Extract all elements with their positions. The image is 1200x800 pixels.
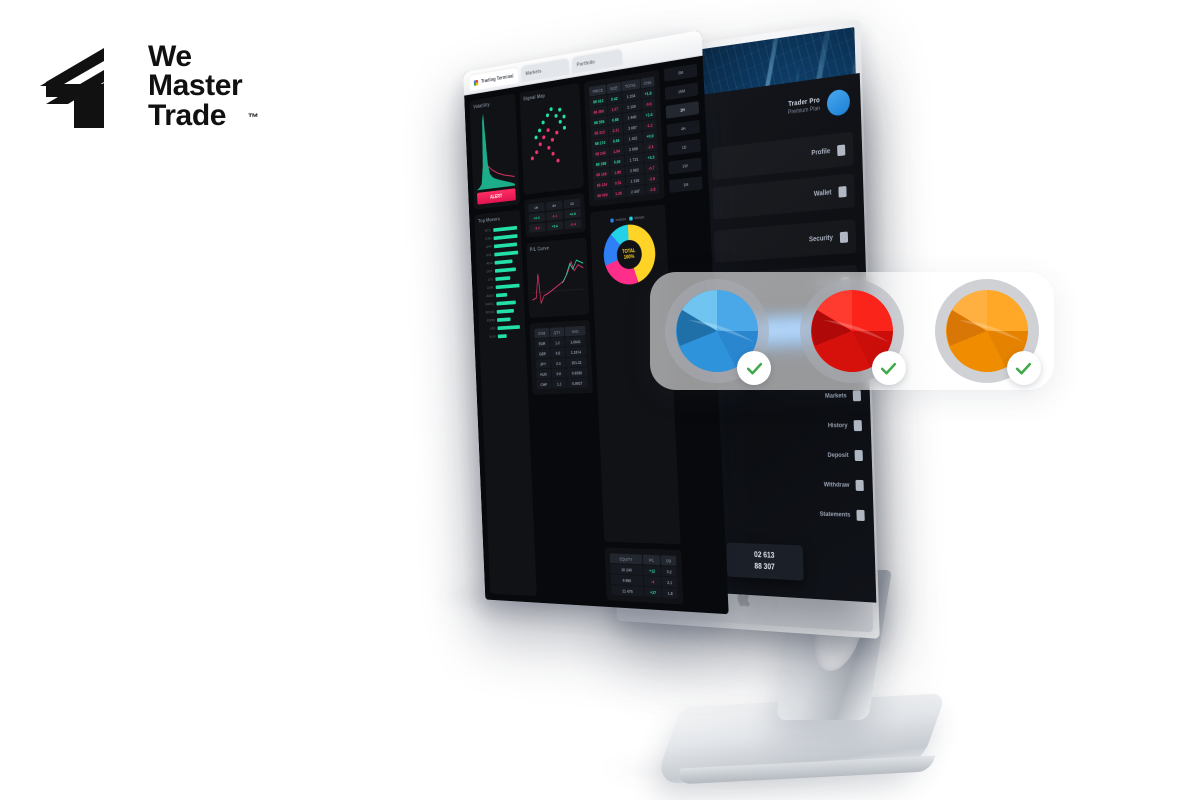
settings-user-header[interactable]: Trader Pro Premium Plan [712,88,851,131]
top-movers-bar [497,317,511,322]
brand-line-3: Trade [148,101,242,130]
table-cell: 1.54 [610,145,624,156]
top-movers-bar [494,250,518,256]
quote-chip[interactable]: -3.2 [529,223,546,233]
table-header-cell: EQUITY [610,553,643,564]
scatter-dot [556,158,559,162]
hero-composition: We Master Trade ™ [0,0,1200,800]
check-icon [1007,351,1041,385]
verified-badges-panel [650,272,1054,390]
table-cell: CHF [536,379,551,389]
tab-label: Markets [525,68,541,76]
table-cell: 2.4 [551,358,566,368]
table-header-cell: DD [661,555,677,565]
scatter-dot [535,150,538,154]
scatter-dot [563,114,566,118]
brand-wordmark: We Master Trade ™ [148,42,242,130]
top-movers-label: ADA [480,260,493,266]
table-cell: +3.3 [644,151,658,162]
user-icon [837,144,845,156]
allocation-donut-chart: TOTAL 100% [602,222,656,286]
positions-card: SYMQTYAVGEUR1.21.0841GBP0.81.2674JPY2.41… [529,320,593,395]
table-cell: 1.1 [552,379,567,389]
table-row: 11 475+271.8 [611,585,678,598]
shield-icon [840,231,848,242]
settings-row-label: Security [809,234,833,243]
table-cell: -1.5 [645,173,659,184]
chrome-favicon-icon [474,79,479,85]
top-movers-bar [497,308,514,313]
table-cell: 0.6588 [567,367,588,377]
document-icon [856,509,864,520]
scatter-dot [558,108,561,112]
table-cell: 1.8 [662,588,678,599]
table-cell: 1.2 [550,337,565,347]
menu-item-label: History [828,422,848,429]
scatter-dot [547,146,550,150]
table-header-cell: P/L [643,555,661,565]
quote-chip[interactable]: -0.4 [564,219,581,229]
top-movers-label: DOT [480,268,493,274]
timeframe-chips-card: 1H4H1D+2.4-1.1+0.8-3.2+5.6-0.4 [524,193,586,238]
top-movers-bar [497,325,519,330]
top-movers-row: XLM [483,331,522,341]
table-cell: 1.26 [612,187,626,198]
check-icon [737,351,771,385]
menu-item-statements[interactable]: Statements [722,499,865,528]
menu-item-label: Deposit [827,451,848,458]
table-cell: -4 [644,576,662,587]
top-movers-label: ETH [479,236,492,242]
top-movers-label: LTC [481,277,494,283]
table-cell: AUD [536,369,551,379]
settings-row-security[interactable]: Security [714,219,857,263]
table-cell: 9 860 [611,574,644,585]
table-cell: +27 [644,587,662,598]
top-movers-bar [496,300,516,305]
scatter-dot [534,135,537,139]
volatility-card: Volatility ALERT [469,94,519,210]
brand-logo: We Master Trade ™ [38,42,242,130]
table-cell: 1.88 [611,166,625,177]
badge-blue[interactable] [665,279,769,383]
tooltip-line-2: 88 307 [732,560,797,575]
orderbook-table: PRICESIZETOTALCHG68 4120.421 204+1.868 3… [588,75,660,201]
menu-item-label: Markets [825,392,847,399]
table-cell: 0.8 [550,348,565,358]
settings-row-profile[interactable]: Profile [711,132,853,180]
timeframe-tick[interactable]: 1H [666,101,699,119]
menu-item-label: Statements [820,510,851,518]
wallet-icon [838,186,846,198]
top-movers-bar [496,292,507,296]
table-header-cell: SYM [534,328,549,338]
top-movers-label: SOL [480,252,493,258]
pl-line-chart [530,251,585,313]
table-cell: 151.32 [566,357,587,367]
top-movers-label: XLM [483,334,496,339]
table-cell: EUR [534,338,549,348]
timeframe-tick[interactable]: 1W [668,158,701,175]
table-cell: 0.93 [610,156,624,167]
table-cell: JPY [535,359,550,369]
table-cell: 1.0841 [565,336,586,347]
table-cell: 2 447 [626,185,645,197]
menu-item-deposit[interactable]: Deposit [720,442,863,468]
timeframe-tick[interactable]: 1M [669,176,702,193]
top-movers-bar [498,334,507,338]
account-stats-table: EQUITYP/LDD10 240+123.29 860-42.111 475+… [609,552,679,599]
table-cell: +12 [643,565,661,576]
scatter-dot [550,107,553,111]
positions-table: SYMQTYAVGEUR1.21.0841GBP0.81.2674JPY2.41… [533,325,588,390]
scatter-dot [554,114,557,118]
table-cell: +0.9 [643,130,657,142]
imac-desktop: Trader Pro Premium Plan Profile Wallet S… [520,10,940,800]
signal-map-card: Signal Map [519,83,584,195]
table-cell: 68 090 [594,189,612,200]
scatter-dot [539,142,542,146]
top-movers-bar [493,225,517,231]
scatter-dot [538,128,541,132]
menu-item-label: Withdraw [824,481,850,488]
tab-label: Trading Terminal [481,73,514,84]
settings-row-label: Wallet [814,189,832,198]
timeframe-tick[interactable]: 4H [667,120,700,137]
top-movers-label: DOGE [482,309,495,314]
brand-line-2: Master [148,71,242,100]
quote-chip-row: 1H4H1D+2.4-1.1+0.8-3.2+5.6-0.4 [528,198,582,233]
settings-row-wallet[interactable]: Wallet [713,173,855,219]
table-row: CHF1.10.8927 [536,378,588,389]
scatter-dot [542,121,545,125]
top-movers-bar [494,234,518,240]
scatter-dot [563,126,566,130]
tab-label: Portfolio [577,59,595,68]
table-cell: 3.2 [661,566,677,577]
quote-chip[interactable]: 4H [546,200,563,210]
top-movers-bar [495,267,516,272]
account-stats-card: EQUITYP/LDD10 240+123.29 860-42.111 475+… [605,547,684,604]
top-movers-label: UNI [483,326,496,331]
trademark-symbol: ™ [248,113,259,124]
upload-icon [855,479,863,490]
top-movers-bar [496,283,520,289]
quote-chip[interactable]: -1.1 [546,211,563,221]
table-cell: -2.8 [645,183,659,194]
volatility-spike-chart [474,107,515,190]
table-cell: 0.8927 [567,378,588,388]
scatter-dot [555,131,558,135]
legend-item: Indices [611,216,627,222]
quote-chip[interactable]: +2.4 [528,213,545,223]
timeframe-tick[interactable]: 15M [665,82,698,100]
legend-item: Metals [629,214,644,220]
table-cell: 0.51 [611,177,625,188]
scatter-dot [552,152,555,156]
scatter-dot [546,128,549,132]
top-movers-list: BTCETHXRPSOLADADOTLTCLINKAVAXMATICDOGEAT… [478,223,521,341]
check-icon [872,351,906,385]
top-movers-bar [494,242,518,248]
table-cell: -0.7 [644,162,658,173]
timeframe-tick[interactable]: 1D [668,139,701,156]
timeframe-tick[interactable]: 5M [664,64,697,82]
menu-item-withdraw[interactable]: Withdraw [721,470,864,498]
clock-icon [854,420,862,431]
quote-chip[interactable]: +5.6 [546,221,563,231]
signal-scatter-chart [524,97,580,190]
top-movers-label: XRP [479,244,492,250]
user-avatar-icon[interactable] [827,88,851,117]
top-movers-bar [495,276,510,281]
badge-orange[interactable] [935,279,1039,383]
orderbook-card: PRICESIZETOTALCHG68 4120.421 204+1.868 3… [584,70,665,207]
quote-chip[interactable]: +0.8 [564,209,581,219]
table-cell: GBP [535,348,550,358]
top-movers-label: ATOM [482,318,495,323]
top-movers-bar [495,259,513,264]
quote-chip[interactable]: 1H [528,202,545,212]
arrow-chevron-logo-icon [38,42,130,130]
scatter-dot [559,120,562,124]
table-cell: 1.2674 [566,347,587,357]
table-cell: -2.1 [643,141,657,153]
top-movers-label: MATIC [482,301,495,306]
alert-button[interactable]: ALERT [477,188,516,204]
top-movers-label: BTC [479,228,492,234]
quote-chip[interactable]: 1D [564,198,581,208]
table-cell: 10 240 [610,564,643,575]
table-header-cell: AVG [565,326,586,337]
top-movers-label: AVAX [481,293,494,298]
donut-center-value: 100% [624,254,635,261]
pl-curve-card: P/L Curve [526,237,590,318]
value-tooltip: 02 613 88 307 [726,542,803,580]
table-cell: 2.1 [662,577,678,588]
brand-line-1: We [148,42,242,71]
table-cell: 0.6 [551,368,566,378]
download-icon [855,450,863,461]
scatter-dot [531,156,534,160]
scatter-dot [551,138,554,142]
scatter-dot [546,113,549,117]
table-header-cell: QTY [550,327,565,337]
table-cell: 0.65 [609,135,623,146]
settings-row-label: Profile [811,148,830,157]
chart-icon [853,390,861,401]
top-movers-label: LINK [481,285,494,291]
scatter-dot [543,135,546,139]
menu-item-history[interactable]: History [719,412,862,438]
badge-red[interactable] [800,279,904,383]
table-cell: 11 475 [611,585,644,596]
